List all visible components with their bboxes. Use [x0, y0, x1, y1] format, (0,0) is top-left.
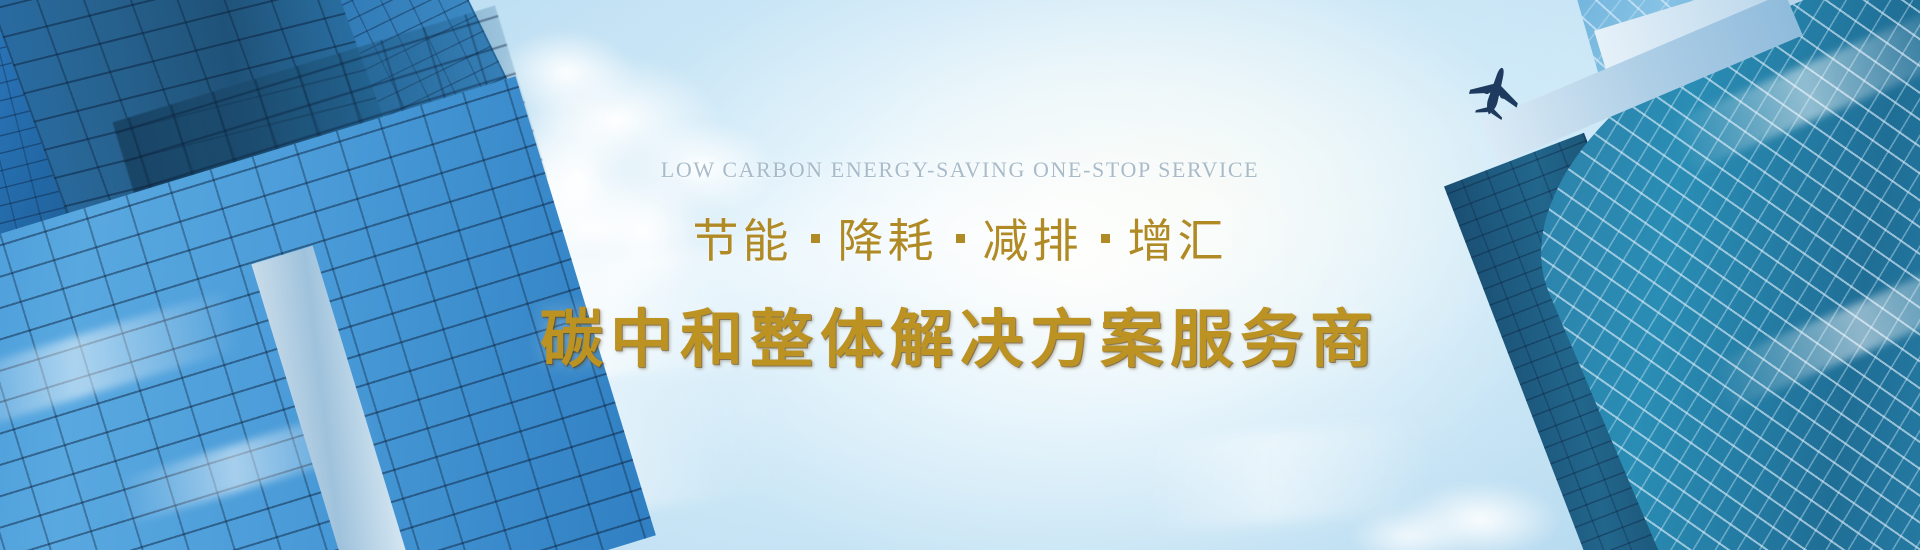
banner-eyebrow: LOW CARBON ENERGY-SAVING ONE-STOP SERVIC… [661, 157, 1259, 183]
subtitle-separator-dot [956, 234, 965, 243]
banner-headline: 碳中和整体解决方案服务商 [540, 289, 1380, 380]
subtitle-segment-2: 降耗 [838, 205, 938, 271]
subtitle-segment-4: 增汇 [1128, 205, 1228, 271]
subtitle-separator-dot [1101, 234, 1110, 243]
hero-banner: LOW CARBON ENERGY-SAVING ONE-STOP SERVIC… [0, 0, 1920, 550]
subtitle-segment-1: 节能 [693, 205, 793, 271]
subtitle-segment-3: 减排 [983, 205, 1083, 271]
banner-subtitle: 节能 降耗 减排 增汇 [693, 205, 1228, 271]
subtitle-separator-dot [811, 234, 820, 243]
